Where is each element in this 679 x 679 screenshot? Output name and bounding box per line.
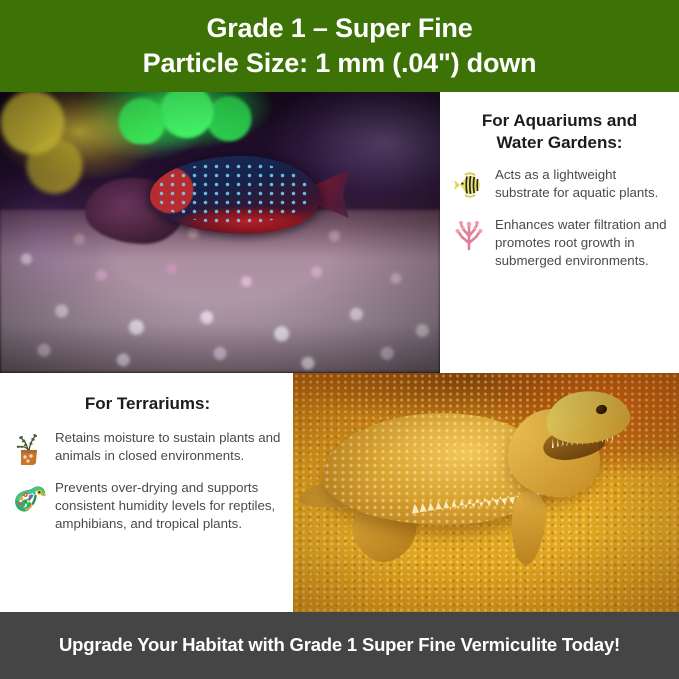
list-item: Acts as a lightweight substrate for aqua… (452, 166, 667, 202)
aquarium-heading-line-1: For Aquariums and (452, 110, 667, 132)
list-item-text: Enhances water filtration and promotes r… (495, 216, 667, 270)
header-banner: Grade 1 – Super Fine Particle Size: 1 mm… (0, 0, 679, 92)
aquarium-text-panel: For Aquariums and Water Gardens: (440, 92, 679, 373)
aquarium-photo (0, 92, 440, 373)
header-title-line-1: Grade 1 – Super Fine (206, 11, 472, 46)
footer-banner: Upgrade Your Habitat with Grade 1 Super … (0, 612, 679, 679)
terrarium-panel-heading: For Terrariums: (12, 393, 283, 415)
list-item-text: Acts as a lightweight substrate for aqua… (495, 166, 667, 202)
chameleon-icon (12, 481, 46, 515)
header-title-line-2: Particle Size: 1 mm (.04") down (143, 46, 537, 81)
terrarium-text-panel: For Terrariums: (0, 373, 293, 612)
coral-icon (452, 218, 486, 252)
aquarium-panel-heading: For Aquariums and Water Gardens: (452, 110, 667, 154)
list-item: Retains moisture to sustain plants and a… (12, 429, 283, 465)
list-item: Prevents over-drying and supports consis… (12, 479, 283, 533)
list-item-text: Prevents over-drying and supports consis… (55, 479, 283, 533)
tropical-fish-icon (452, 168, 486, 202)
dragon-vignette (293, 373, 679, 612)
terrarium-bullet-list: Retains moisture to sustain plants and a… (12, 429, 283, 547)
product-infographic: Grade 1 – Super Fine Particle Size: 1 mm… (0, 0, 679, 679)
footer-call-to-action: Upgrade Your Habitat with Grade 1 Super … (59, 633, 620, 657)
potted-plant-icon (12, 431, 46, 465)
aquarium-bullet-list: Acts as a lightweight substrate for aqua… (452, 166, 667, 284)
bearded-dragon-photo (293, 373, 679, 612)
list-item: Enhances water filtration and promotes r… (452, 216, 667, 270)
aquarium-heading-line-2: Water Gardens: (452, 132, 667, 154)
aquarium-vignette (0, 92, 440, 373)
list-item-text: Retains moisture to sustain plants and a… (55, 429, 283, 465)
